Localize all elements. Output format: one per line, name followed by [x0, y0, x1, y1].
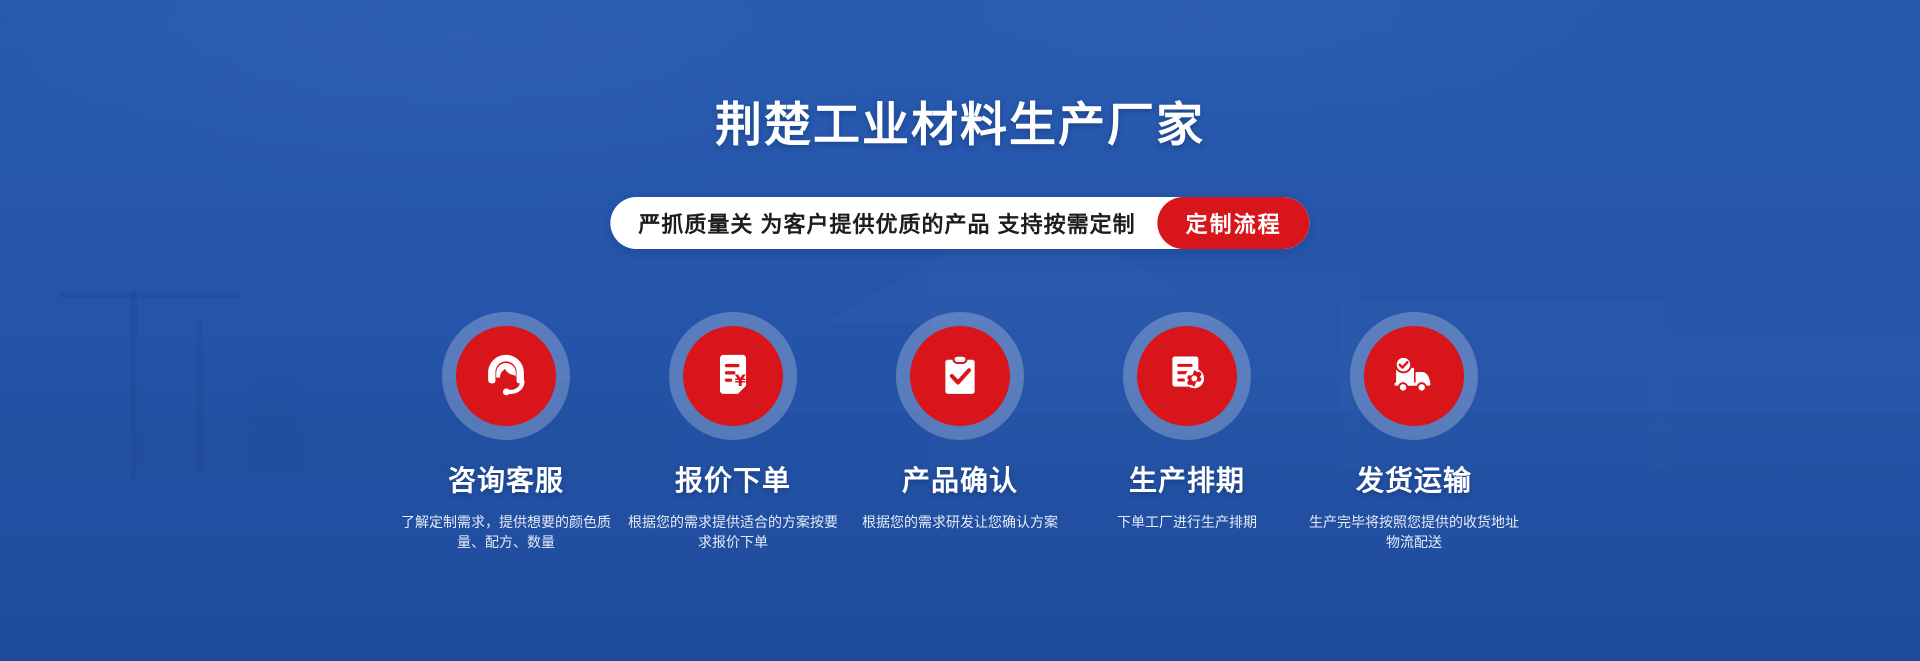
- promo-banner: 荆楚工业材料生产厂家 严抓质量关 为客户提供优质的产品 支持按需定制 定制流程: [0, 0, 1920, 661]
- step-description: 下单工厂进行生产排期: [1082, 512, 1292, 532]
- step-icon-button[interactable]: [1350, 312, 1478, 440]
- step-icon-badge: [910, 326, 1010, 426]
- page-title: 荆楚工业材料生产厂家: [0, 98, 1920, 152]
- process-steps: 咨询客服 了解定制需求，提供想要的颜色质量、配方、数量 ¥: [400, 312, 1520, 553]
- step-description: 了解定制需求，提供想要的颜色质量、配方、数量: [401, 512, 611, 553]
- step-title: 产品确认: [902, 467, 1018, 495]
- subtitle-bar: 严抓质量关 为客户提供优质的产品 支持按需定制 定制流程: [610, 197, 1309, 249]
- step-title: 报价下单: [675, 467, 791, 495]
- step-icon-badge: [1137, 326, 1237, 426]
- step-title: 咨询客服: [448, 467, 564, 495]
- step-description: 生产完毕将按照您提供的收货地址物流配送: [1309, 512, 1519, 553]
- clipboard-check-icon: [934, 350, 986, 402]
- step-description: 根据您的需求研发让您确认方案: [855, 512, 1065, 532]
- headset-support-icon: [480, 350, 532, 402]
- step-icon-button[interactable]: [442, 312, 570, 440]
- step-icon-button[interactable]: [1123, 312, 1251, 440]
- step-icon-button[interactable]: ¥: [669, 312, 797, 440]
- document-gear-icon: [1161, 350, 1213, 402]
- process-step[interactable]: 咨询客服 了解定制需求，提供想要的颜色质量、配方、数量: [400, 312, 612, 553]
- step-icon-button[interactable]: [896, 312, 1024, 440]
- process-step[interactable]: 发货运输 生产完毕将按照您提供的收货地址物流配送: [1308, 312, 1520, 553]
- process-step[interactable]: ¥ 报价下单 根据您的需求提供适合的方案按要求报价下单: [627, 312, 839, 553]
- step-description: 根据您的需求提供适合的方案按要求报价下单: [628, 512, 838, 553]
- svg-text:¥: ¥: [735, 371, 747, 390]
- step-icon-badge: ¥: [683, 326, 783, 426]
- process-step[interactable]: 生产排期 下单工厂进行生产排期: [1081, 312, 1293, 553]
- step-title: 生产排期: [1129, 467, 1245, 495]
- custom-process-button[interactable]: 定制流程: [1158, 197, 1310, 249]
- process-step[interactable]: 产品确认 根据您的需求研发让您确认方案: [854, 312, 1066, 553]
- step-icon-badge: [1364, 326, 1464, 426]
- step-icon-badge: [456, 326, 556, 426]
- step-title: 发货运输: [1356, 467, 1472, 495]
- subtitle-text: 严抓质量关 为客户提供优质的产品 支持按需定制: [610, 197, 1157, 249]
- delivery-truck-check-icon: [1388, 350, 1440, 402]
- invoice-yuan-icon: ¥: [707, 350, 759, 402]
